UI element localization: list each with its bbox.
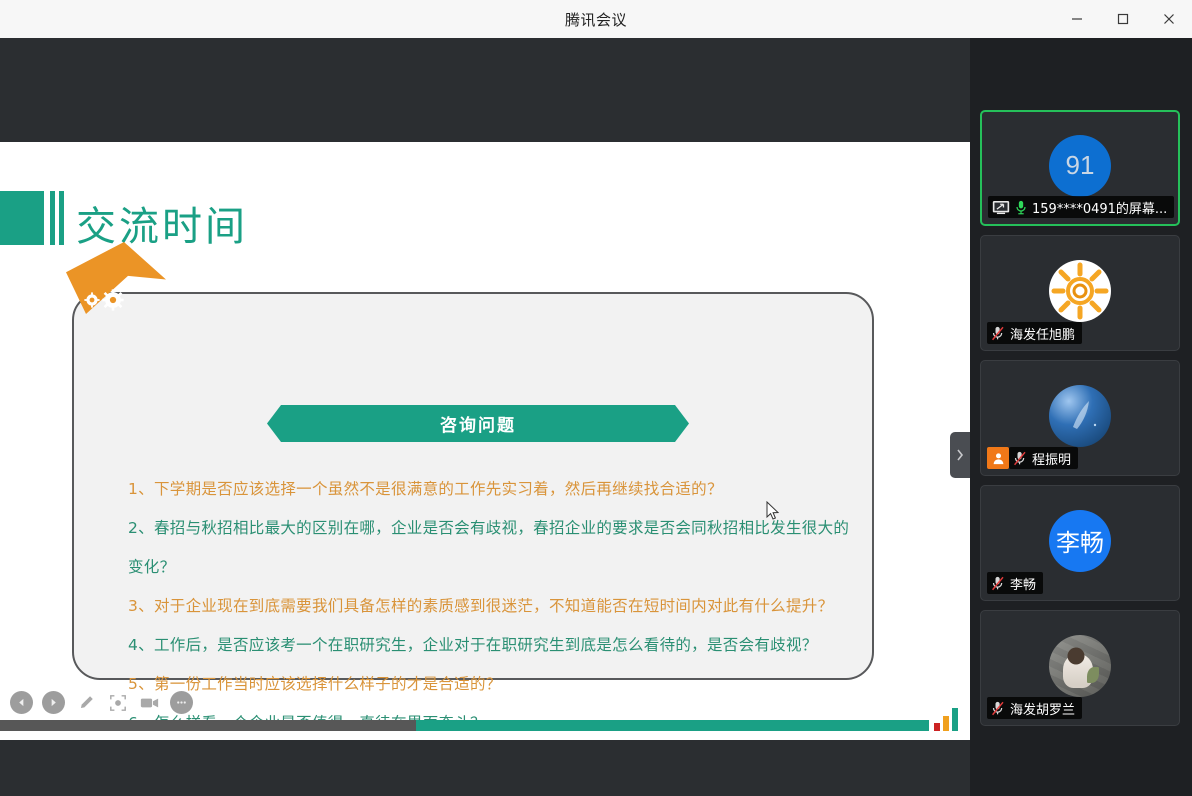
microphone-muted-icon — [1013, 451, 1027, 466]
participant-name: 李畅 — [1010, 574, 1036, 593]
avatar-text: 91 — [1066, 150, 1095, 181]
participant-tile-3[interactable]: 程振明 — [980, 360, 1180, 476]
question-item-4: 4、工作后，是否应该考一个在职研究生，企业对于在职研究生到底是怎么看待的，是否会… — [128, 626, 858, 665]
questions-banner: 咨询问题 — [267, 405, 689, 442]
question-number-3: 3、 — [128, 597, 154, 615]
question-text-2: 春招与秋招相比最大的区别在哪，企业是否会有歧视，春招企业的要求是否会同秋招相比发… — [128, 519, 849, 576]
screen-share-icon — [992, 200, 1010, 215]
window-controls — [1054, 0, 1192, 38]
microphone-icon — [1015, 200, 1027, 215]
presentation-slide: 交流时间 — [0, 142, 970, 720]
status-bar-teal — [952, 708, 958, 731]
participant-name-strip-4: 李畅 — [987, 572, 1043, 594]
question-text-5: 第一份工作当时应该选择什么样子的才是合适的？ — [154, 675, 502, 693]
title-accent-line-2 — [59, 191, 64, 245]
title-accent-block — [0, 191, 44, 245]
avatar: 李畅 — [1049, 510, 1111, 572]
participant-name-strip-1: 159****0491的屏幕... — [988, 196, 1174, 218]
question-list: 1、下学期是否应该选择一个虽然不是很满意的工作先实习着，然后再继续找合适的？ 2… — [128, 470, 858, 720]
participant-name-strip-2: 海发任旭鹏 — [987, 322, 1082, 344]
participant-tile-5[interactable]: 海发胡罗兰 — [980, 610, 1180, 726]
participant-tile-1[interactable]: 91 159****0491的屏幕... — [980, 110, 1180, 226]
question-text-3: 对于企业现在到底需要我们具备怎样的素质感到很迷茫，不知道能否在短时间内对此有什么… — [154, 597, 833, 615]
participant-name: 程振明 — [1032, 449, 1071, 468]
feather-avatar-icon — [1049, 385, 1111, 447]
question-number-2: 2、 — [128, 519, 154, 537]
tencent-meeting-window: 腾讯会议 S 交流时间 — [0, 0, 1192, 796]
question-item-1: 1、下学期是否应该选择一个虽然不是很满意的工作先实习着，然后再继续找合适的？ — [128, 470, 858, 509]
photo-hair — [1068, 647, 1085, 664]
questions-banner-label: 咨询问题 — [440, 411, 516, 436]
question-number-1: 1、 — [128, 480, 154, 498]
photo-leaf — [1087, 667, 1099, 683]
window-title: 腾讯会议 — [565, 9, 627, 30]
microphone-muted-icon — [991, 326, 1005, 341]
video-camera-button[interactable] — [138, 691, 161, 714]
participant-name-strip-5: 海发胡罗兰 — [987, 697, 1082, 719]
question-item-5: 5、第一份工作当时应该选择什么样子的才是合适的？ — [128, 665, 858, 704]
avatar: 91 — [1049, 135, 1111, 197]
avatar-text: 李畅 — [1056, 523, 1104, 558]
host-badge — [987, 447, 1009, 469]
pen-tool-button[interactable] — [74, 691, 97, 714]
participant-tile-2[interactable]: 海发任旭鹏 — [980, 235, 1180, 351]
participant-name: 海发任旭鹏 — [1010, 324, 1075, 343]
question-item-6: 6、怎么样看一个企业是否值得一直待在里面奋斗？ — [128, 704, 858, 720]
participant-tile-4[interactable]: 李畅 李畅 — [980, 485, 1180, 601]
close-button[interactable] — [1146, 0, 1192, 38]
next-slide-button[interactable] — [42, 691, 65, 714]
taskbar-strip — [0, 720, 970, 740]
participant-name: 海发胡罗兰 — [1010, 699, 1075, 718]
status-bars-indicator — [934, 708, 964, 731]
mouse-cursor — [766, 501, 780, 526]
slide-title: 交流时间 — [76, 194, 248, 252]
participant-name-strip-3: 程振明 — [1009, 447, 1078, 469]
question-number-4: 4、 — [128, 636, 154, 654]
status-bar-orange — [943, 716, 949, 731]
status-bar-red — [934, 723, 940, 731]
more-options-button[interactable] — [170, 691, 193, 714]
microphone-muted-icon — [991, 576, 1005, 591]
avatar — [1049, 635, 1111, 697]
previous-slide-button[interactable] — [10, 691, 33, 714]
title-bar: 腾讯会议 — [0, 0, 1192, 38]
minimize-button[interactable] — [1054, 0, 1100, 38]
collapse-panel-button[interactable] — [950, 432, 970, 478]
spotlight-button[interactable] — [106, 691, 129, 714]
taskbar-dark-segment — [0, 720, 416, 731]
microphone-muted-icon — [991, 701, 1005, 716]
participant-name: 159****0491的屏幕... — [1032, 198, 1167, 217]
avatar — [1049, 385, 1111, 447]
question-text-4: 工作后，是否应该考一个在职研究生，企业对于在职研究生到底是怎么看待的，是否会有歧… — [154, 636, 818, 654]
maximize-button[interactable] — [1100, 0, 1146, 38]
shared-screen-workspace: S 交流时间 — [0, 38, 970, 796]
chevron-right-icon — [955, 447, 965, 463]
title-accent-line-1 — [50, 191, 55, 245]
question-item-2: 2、春招与秋招相比最大的区别在哪，企业是否会有歧视，春招企业的要求是否会同秋招相… — [128, 509, 858, 587]
participants-rail: 91 159****0491的屏幕... — [970, 38, 1192, 796]
question-item-3: 3、对于企业现在到底需要我们具备怎样的素质感到很迷茫，不知道能否在短时间内对此有… — [128, 587, 858, 626]
avatar — [1049, 260, 1111, 322]
question-text-1: 下学期是否应该选择一个虽然不是很满意的工作先实习着，然后再继续找合适的？ — [154, 480, 723, 498]
sun-avatar-icon — [1049, 260, 1111, 322]
person-icon — [992, 452, 1005, 465]
taskbar-teal-segment — [416, 720, 929, 731]
ppt-presenter-toolbar[interactable] — [10, 691, 193, 714]
